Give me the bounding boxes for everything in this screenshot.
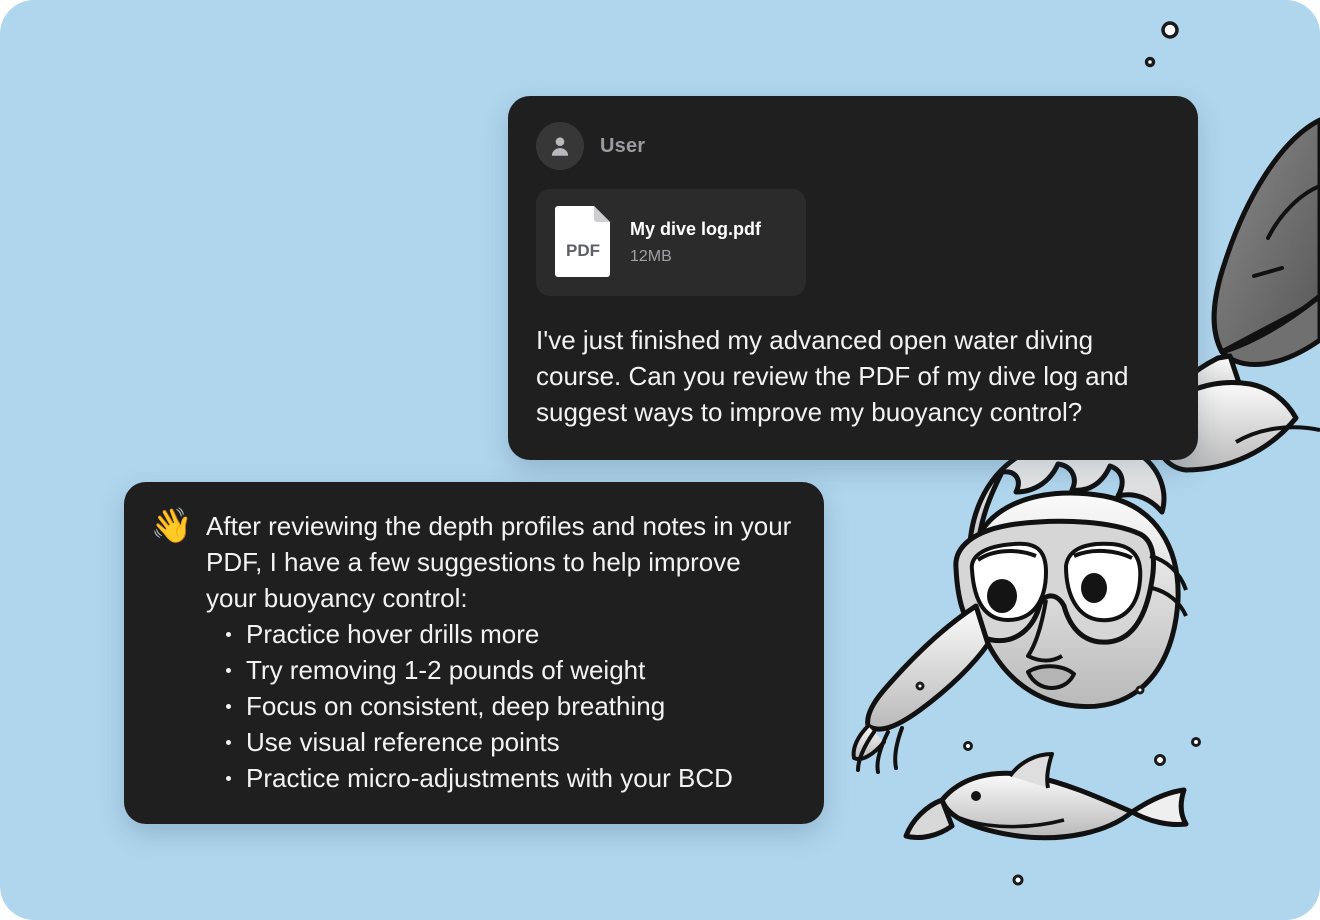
file-attachment-card[interactable]: PDF My dive log.pdf 12MB	[536, 189, 806, 296]
suggestion-item: Practice hover drills more	[222, 616, 794, 652]
air-bubbles-lower	[917, 683, 1200, 884]
file-name: My dive log.pdf	[630, 219, 761, 241]
user-message-bubble: User PDF My dive log.pdf 12MB I've just …	[508, 96, 1198, 460]
sender-name: User	[600, 135, 645, 158]
pdf-file-icon: PDF	[552, 203, 614, 282]
snorkeler-left-arm	[854, 606, 988, 772]
suggestion-item: Use visual reference points	[222, 724, 794, 760]
app-canvas: User PDF My dive log.pdf 12MB I've just …	[0, 0, 1320, 920]
snorkeler-head	[956, 438, 1186, 706]
svg-text:PDF: PDF	[566, 241, 600, 260]
fish	[906, 754, 1186, 838]
suggestion-item: Practice micro-adjustments with your BCD	[222, 760, 794, 796]
person-avatar-icon	[536, 122, 584, 170]
suggestion-item: Focus on consistent, deep breathing	[222, 688, 794, 724]
assistant-intro-text: After reviewing the depth profiles and n…	[206, 508, 794, 616]
suggestion-item: Try removing 1-2 pounds of weight	[222, 652, 794, 688]
user-header: User	[536, 122, 1170, 170]
waving-hand-emoji: 👋	[150, 508, 194, 544]
file-size: 12MB	[630, 247, 761, 266]
suggestion-list: Practice hover drills moreTry removing 1…	[206, 616, 794, 796]
user-message-text: I've just finished my advanced open wate…	[536, 322, 1170, 430]
assistant-message-bubble: 👋 After reviewing the depth profiles and…	[124, 482, 824, 824]
